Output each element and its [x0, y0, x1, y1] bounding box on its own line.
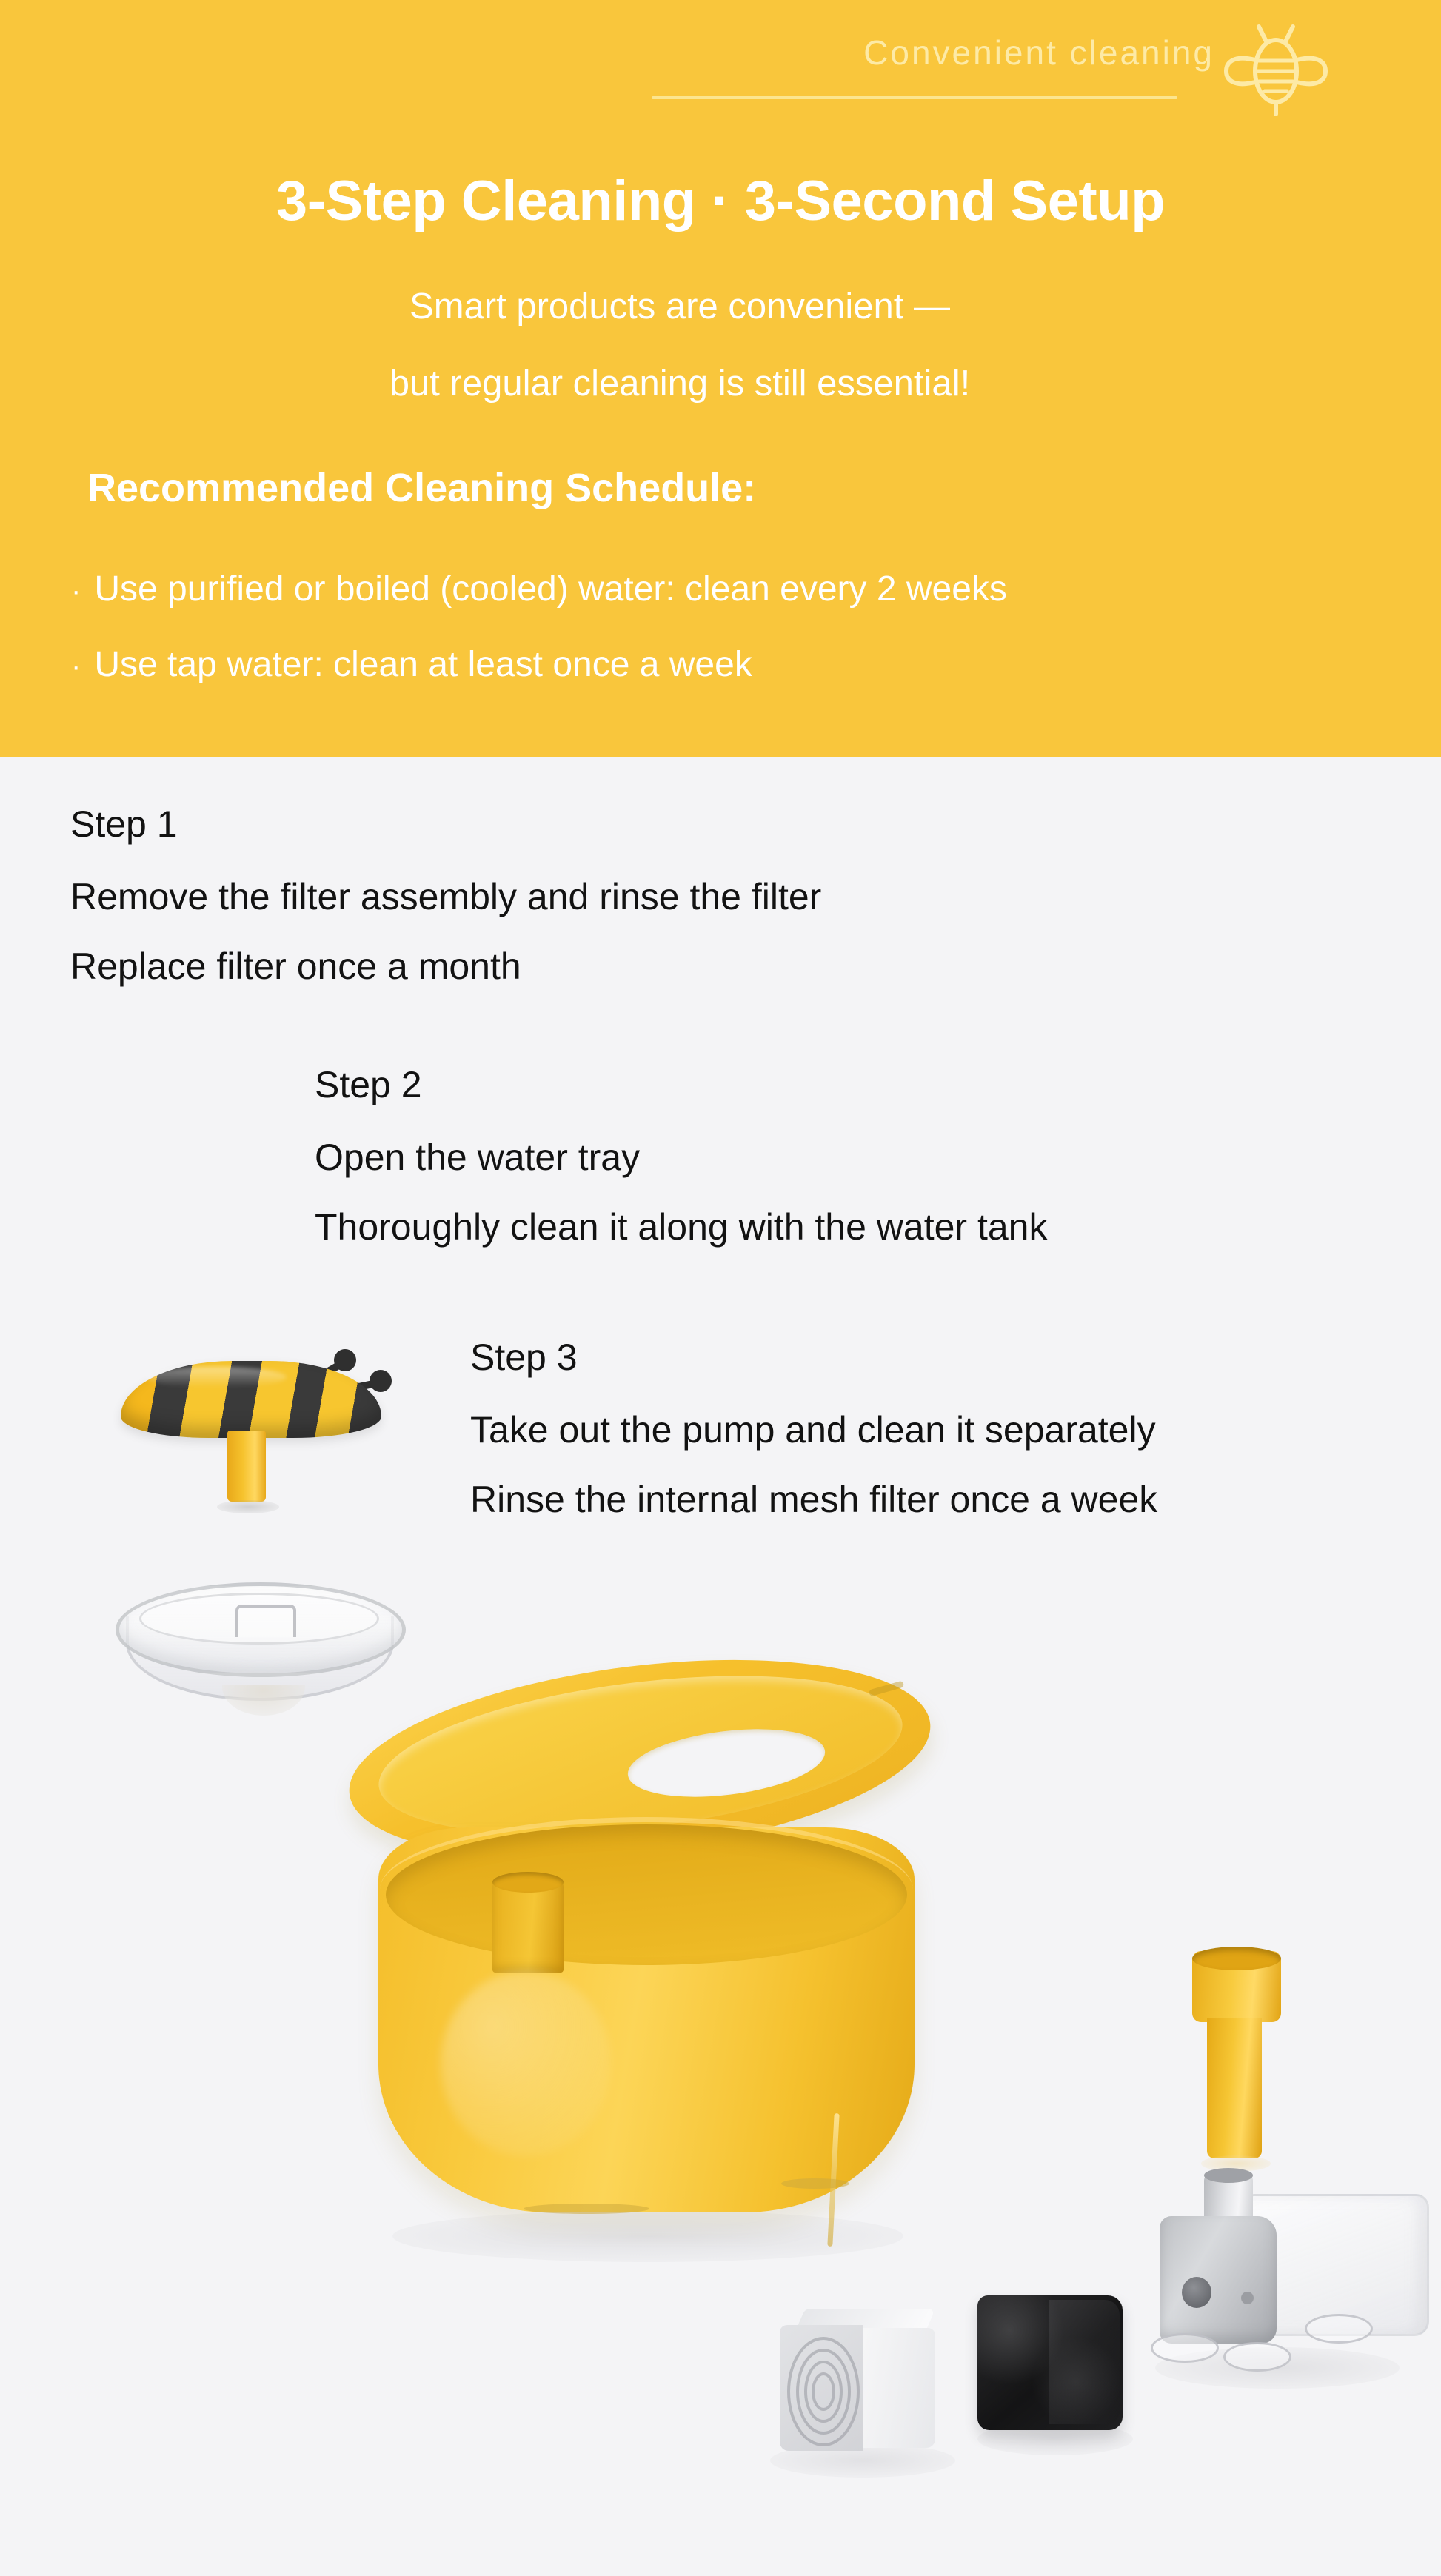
- water-pump-image: [1146, 1944, 1441, 2388]
- pump-spout-opening: [1192, 1947, 1281, 1970]
- infographic-page: Convenient cleaning: [0, 0, 1441, 2576]
- step-3-line-1: Take out the pump and clean it separatel…: [470, 1411, 1157, 1448]
- schedule-heading: Recommended Cleaning Schedule:: [87, 468, 756, 508]
- black-foam-sponge-image: [977, 2295, 1126, 2443]
- yellow-water-tank-image: [337, 1660, 959, 2245]
- sponge-side-face: [1049, 2300, 1120, 2424]
- step-2-title: Step 2: [315, 1066, 1047, 1103]
- step-block-3: Step 3 Take out the pump and clean it se…: [470, 1339, 1157, 1518]
- pump-intake-port: [1182, 2277, 1211, 2308]
- bee-antenna-tip: [370, 1370, 392, 1392]
- mesh-filter-front-face: [780, 2325, 863, 2451]
- tank-gloss-highlight: [441, 1971, 611, 2156]
- list-item: · Use tap water: clean at least once a w…: [71, 647, 1404, 683]
- tank-rim-highlight: [380, 1817, 913, 1962]
- pump-motor-body: [1160, 2216, 1277, 2344]
- subtitle-line-1: Smart products are convenient —: [0, 289, 1441, 325]
- pump-suction-cup: [1151, 2333, 1219, 2363]
- white-mesh-filter-image: [772, 2309, 943, 2466]
- step-2-line-2: Thoroughly clean it along with the water…: [315, 1208, 1047, 1245]
- tank-foot: [781, 2178, 849, 2189]
- eyebrow-block: Convenient cleaning: [652, 36, 1214, 99]
- tray-handle-tab: [235, 1605, 296, 1637]
- bee-cap-stem-shadow: [217, 1500, 279, 1513]
- step-3-title: Step 3: [470, 1339, 1157, 1376]
- schedule-bullet-list: · Use purified or boiled (cooled) water:…: [71, 572, 1404, 723]
- pump-screw-dot: [1241, 2292, 1254, 2304]
- step-1-line-1: Remove the filter assembly and rinse the…: [70, 878, 821, 915]
- bee-dome-highlight: [146, 1367, 287, 1388]
- bullet-text: Use purified or boiled (cooled) water: c…: [94, 572, 1007, 607]
- mesh-filter-side-face: [858, 2328, 935, 2448]
- tank-foot: [524, 2204, 649, 2214]
- eyebrow-label: Convenient cleaning: [652, 36, 1214, 70]
- step-2-line-1: Open the water tray: [315, 1139, 1047, 1176]
- pump-suction-cup: [1305, 2314, 1373, 2344]
- bullet-marker-icon: ·: [71, 652, 81, 681]
- bee-cap-stem: [227, 1431, 266, 1502]
- bullet-marker-icon: ·: [71, 576, 81, 606]
- pump-spout-tube: [1207, 2018, 1262, 2158]
- step-1-title: Step 1: [70, 806, 821, 843]
- page-title: 3-Step Cleaning · 3-Second Setup: [0, 172, 1441, 231]
- step-block-1: Step 1 Remove the filter assembly and ri…: [70, 806, 821, 985]
- step-block-2: Step 2 Open the water tray Thoroughly cl…: [315, 1066, 1047, 1245]
- bee-antenna-tip: [334, 1349, 356, 1371]
- list-item: · Use purified or boiled (cooled) water:…: [71, 572, 1404, 607]
- mesh-groove-ring: [812, 2372, 835, 2411]
- header-banner: Convenient cleaning: [0, 0, 1441, 757]
- tank-inner-column-top: [492, 1872, 564, 1893]
- bee-icon: [1220, 19, 1331, 117]
- subtitle-line-2: but regular cleaning is still essential!: [0, 366, 1441, 402]
- step-1-line-2: Replace filter once a month: [70, 948, 821, 985]
- step-3-line-2: Rinse the internal mesh filter once a we…: [470, 1481, 1157, 1518]
- pump-suction-cup: [1223, 2342, 1291, 2372]
- tank-inner-column: [492, 1879, 564, 1973]
- pump-outlet-tube-rim: [1204, 2168, 1253, 2183]
- eyebrow-divider: [652, 96, 1177, 99]
- bullet-text: Use tap water: clean at least once a wee…: [94, 647, 752, 683]
- bee-shaped-filter-cap-image: [115, 1348, 396, 1459]
